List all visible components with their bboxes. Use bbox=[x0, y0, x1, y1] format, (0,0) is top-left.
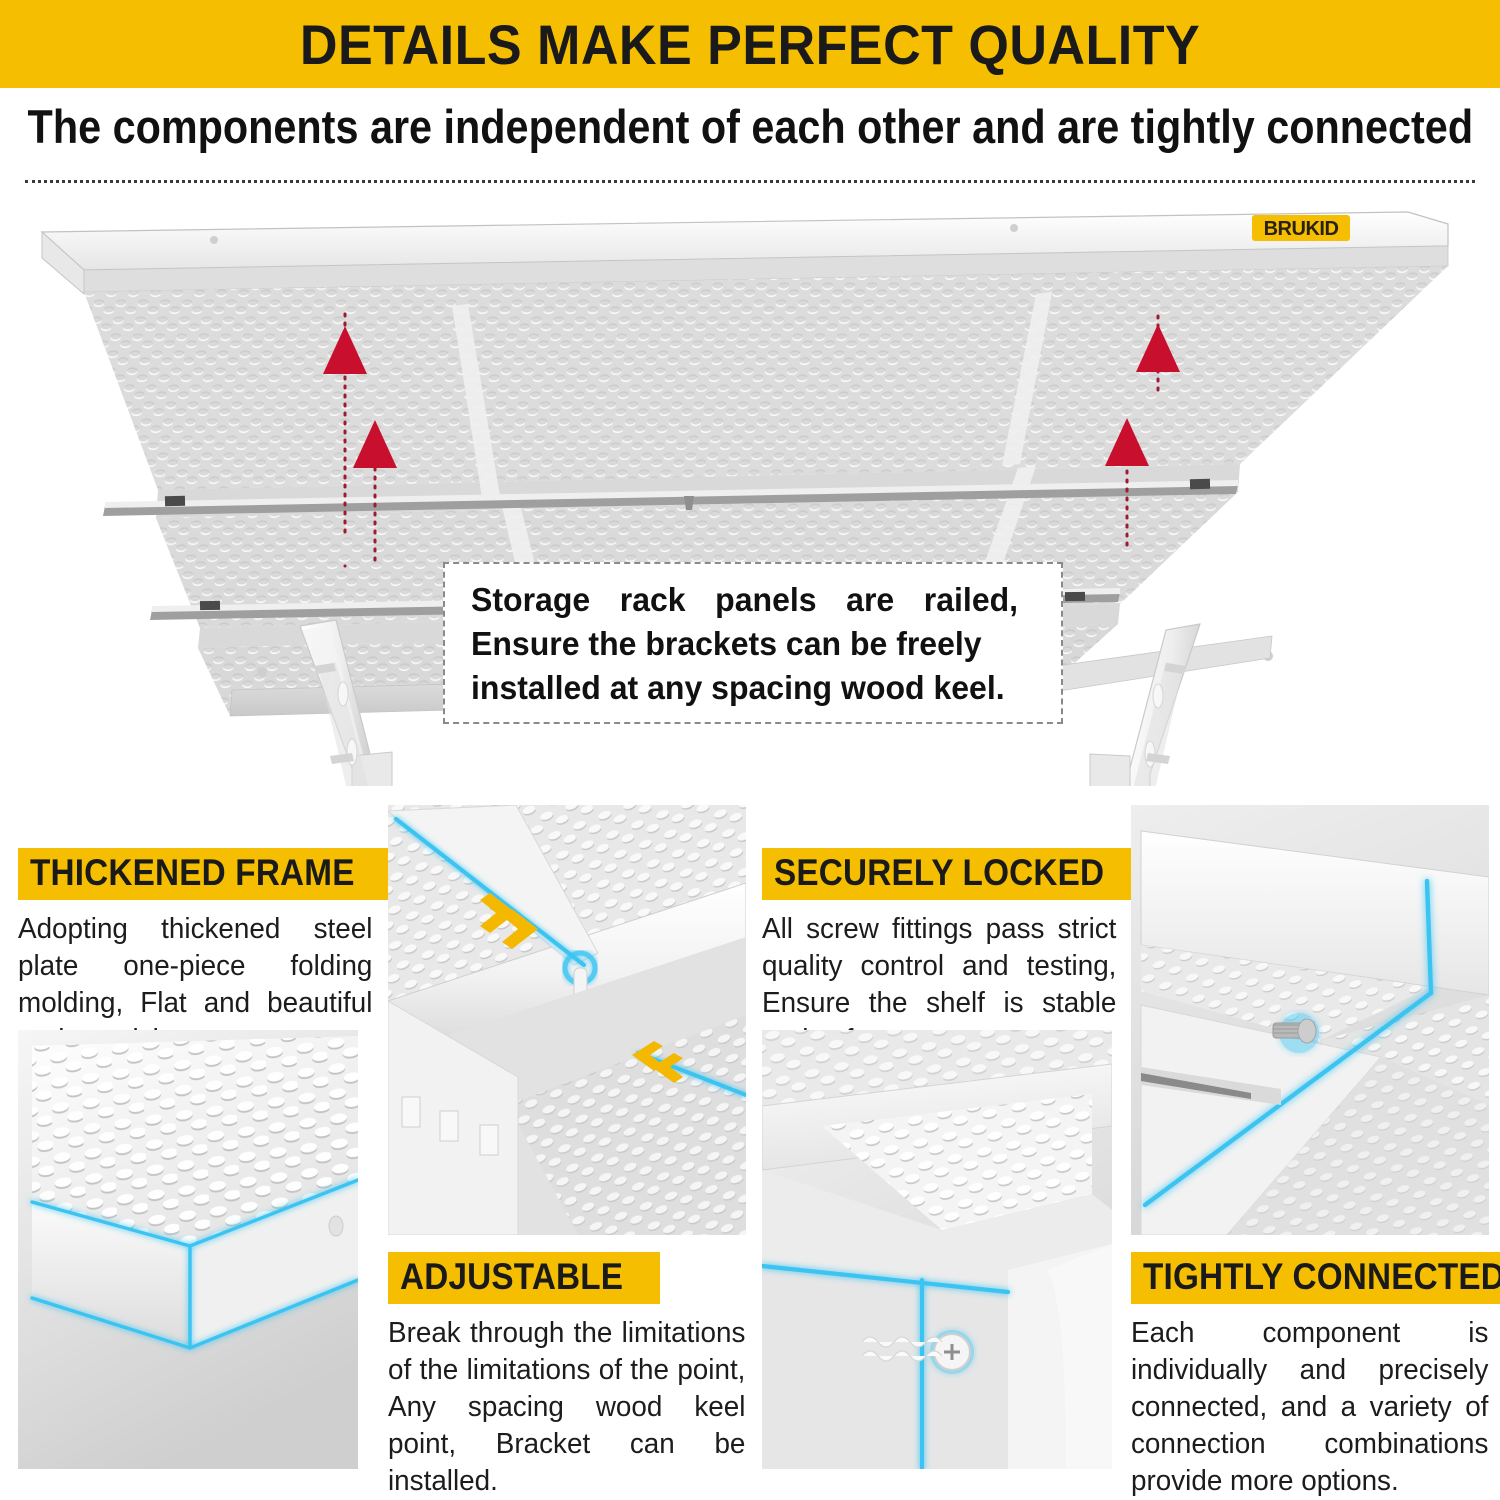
brand-badge: BRUKID bbox=[1252, 215, 1350, 241]
feature-grid: THICKENED FRAME Adopting thickened steel… bbox=[0, 786, 1500, 1469]
callout-line-3: installed at any spacing wood keel. bbox=[471, 666, 1018, 710]
feature-text-block: SECURELY LOCKED All screw fittings pass … bbox=[762, 848, 1117, 1059]
shelf-bracket-right bbox=[1090, 624, 1200, 786]
feature-thickened-frame: THICKENED FRAME Adopting thickened steel… bbox=[18, 786, 373, 1469]
feature-tightly-connected: TIGHTLY CONNECTED Each component is indi… bbox=[1131, 786, 1489, 1469]
callout-note: Storage rack panels are railed, Ensure t… bbox=[443, 562, 1063, 724]
feature-text-block: TIGHTLY CONNECTED Each component is indi… bbox=[1131, 1252, 1489, 1500]
feature-label-badge: THICKENED FRAME bbox=[18, 848, 403, 900]
feature-photo-rail-slide bbox=[388, 805, 746, 1235]
feature-text-block: THICKENED FRAME Adopting thickened steel… bbox=[18, 848, 373, 1059]
adjustable-rail-photo bbox=[388, 805, 746, 1235]
page-subtitle: The components are independent of each o… bbox=[27, 99, 1473, 154]
feature-body: Each component is individually and preci… bbox=[1131, 1315, 1488, 1500]
feature-photo-screw-fitting bbox=[762, 1030, 1112, 1469]
feature-photo-perforated-corner bbox=[18, 1030, 358, 1469]
feature-adjustable: ADJUSTABLE Break through the limitations… bbox=[388, 786, 746, 1469]
feature-label: ADJUSTABLE bbox=[400, 1257, 623, 1297]
feature-label-badge: ADJUSTABLE bbox=[388, 1252, 660, 1304]
feature-label: SECURELY LOCKED bbox=[774, 853, 1104, 893]
feature-text-block: ADJUSTABLE Break through the limitations… bbox=[388, 1252, 746, 1500]
bolted-joint-photo bbox=[1131, 805, 1489, 1235]
page-title: DETAILS MAKE PERFECT QUALITY bbox=[300, 12, 1200, 77]
feature-label-badge: TIGHTLY CONNECTED bbox=[1131, 1252, 1500, 1304]
feature-securely-locked: SECURELY LOCKED All screw fittings pass … bbox=[762, 786, 1117, 1469]
feature-label-badge: SECURELY LOCKED bbox=[762, 848, 1153, 900]
perforated-panel-corner-photo bbox=[18, 1030, 358, 1469]
subtitle-wrap: The components are independent of each o… bbox=[0, 88, 1500, 160]
header-divider bbox=[25, 180, 1475, 183]
callout-line-2: Ensure the brackets can be freely bbox=[471, 625, 982, 662]
feature-body: Break through the limitations of the lim… bbox=[388, 1315, 745, 1500]
feature-label: TIGHTLY CONNECTED bbox=[1143, 1257, 1500, 1297]
callout-line-1: Storage rack panels are railed, bbox=[471, 581, 1018, 618]
feature-photo-bolt-joint bbox=[1131, 805, 1489, 1235]
svg-text:BRUKID: BRUKID bbox=[1264, 218, 1339, 240]
feature-label: THICKENED FRAME bbox=[30, 853, 355, 893]
screw-fitting-photo bbox=[762, 1030, 1112, 1469]
header-bar: DETAILS MAKE PERFECT QUALITY bbox=[0, 0, 1500, 88]
